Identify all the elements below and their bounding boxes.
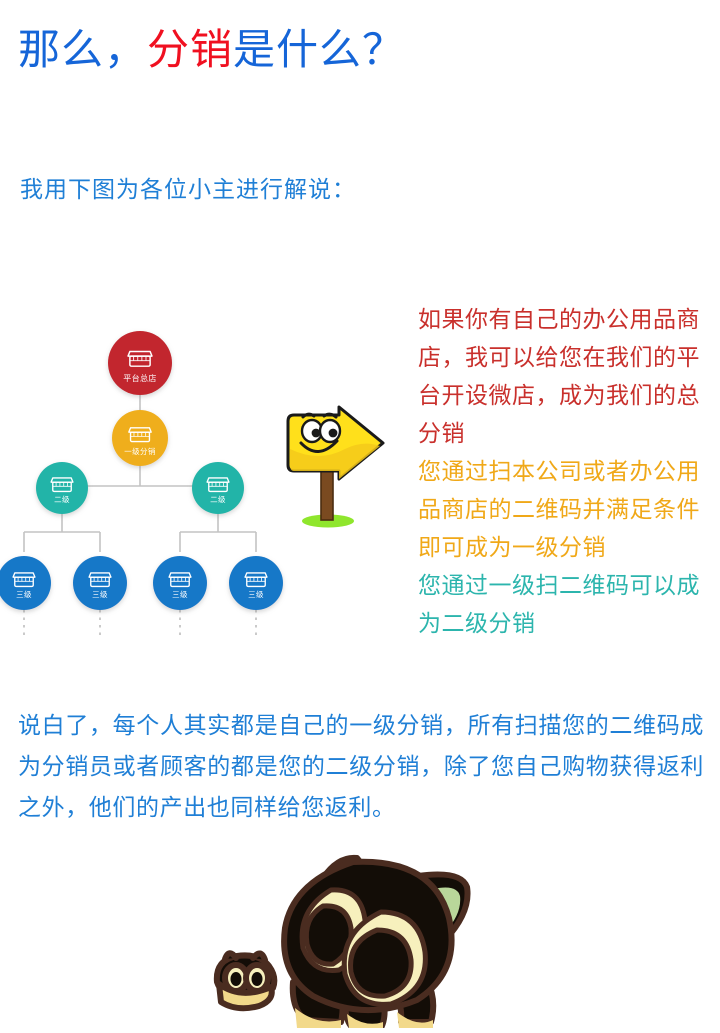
cat-marking-right-inner [351, 930, 412, 996]
tree-node-root[interactable]: 平台总店 [108, 331, 172, 395]
tree-node-level3-d[interactable]: 三级 [229, 556, 283, 610]
tree-node-level1[interactable]: 一级分销 [112, 410, 168, 466]
side-explainer-text: 如果你有自己的办公用品商店，我可以给您在我们的平台开设微店，成为我们的总分销 您… [418, 300, 710, 642]
tree-node-level3-b[interactable]: 三级 [73, 556, 127, 610]
small-creature [217, 953, 275, 1008]
side-text-block-orange: 您通过扫本公司或者办公用品商店的二维码并满足条件即可成为一级分销 [418, 452, 710, 566]
title-segment-highlight: 分销 [147, 26, 233, 73]
tree-node-level2-right[interactable]: 二级 [192, 462, 244, 514]
tree-node-level3-c[interactable]: 三级 [153, 556, 207, 610]
tree-node-level3-d-label: 三级 [248, 589, 264, 599]
tree-node-level3-a-label: 三级 [16, 589, 32, 599]
subtitle: 我用下图为各位小主进行解说： [20, 170, 356, 204]
tree-node-level3-b-label: 三级 [92, 589, 108, 599]
summary-paragraph: 说白了，每个人其实都是自己的一级分销，所有扫描您的二维码成为分销员或者顾客的都是… [18, 705, 704, 828]
black-cat-rear-view-icon [205, 832, 495, 1028]
tree-node-level3-a[interactable]: 三级 [0, 556, 51, 610]
tree-node-level3-c-label: 三级 [172, 589, 188, 599]
tree-node-level2-left-label: 二级 [54, 494, 70, 504]
pupil-left [312, 429, 321, 438]
sign-post [321, 467, 333, 520]
smiling-arrow-sign-icon [283, 405, 403, 540]
tree-node-root-label: 平台总店 [123, 373, 157, 383]
pupil-right [329, 429, 338, 438]
tree-node-level1-label: 一级分销 [124, 446, 156, 456]
side-text-block-teal: 您通过一级扫二维码可以成为二级分销 [418, 566, 710, 642]
title-segment-prefix: 那么， [18, 26, 147, 73]
tree-dotted-tails [24, 610, 256, 636]
tree-node-level2-right-label: 二级 [210, 494, 226, 504]
title-segment-suffix: 是什么？ [233, 26, 405, 73]
tree-node-level2-left[interactable]: 二级 [36, 462, 88, 514]
side-text-block-red: 如果你有自己的办公用品商店，我可以给您在我们的平台开设微店，成为我们的总分销 [418, 300, 710, 452]
page-title: 那么，分销是什么？ [18, 26, 405, 74]
